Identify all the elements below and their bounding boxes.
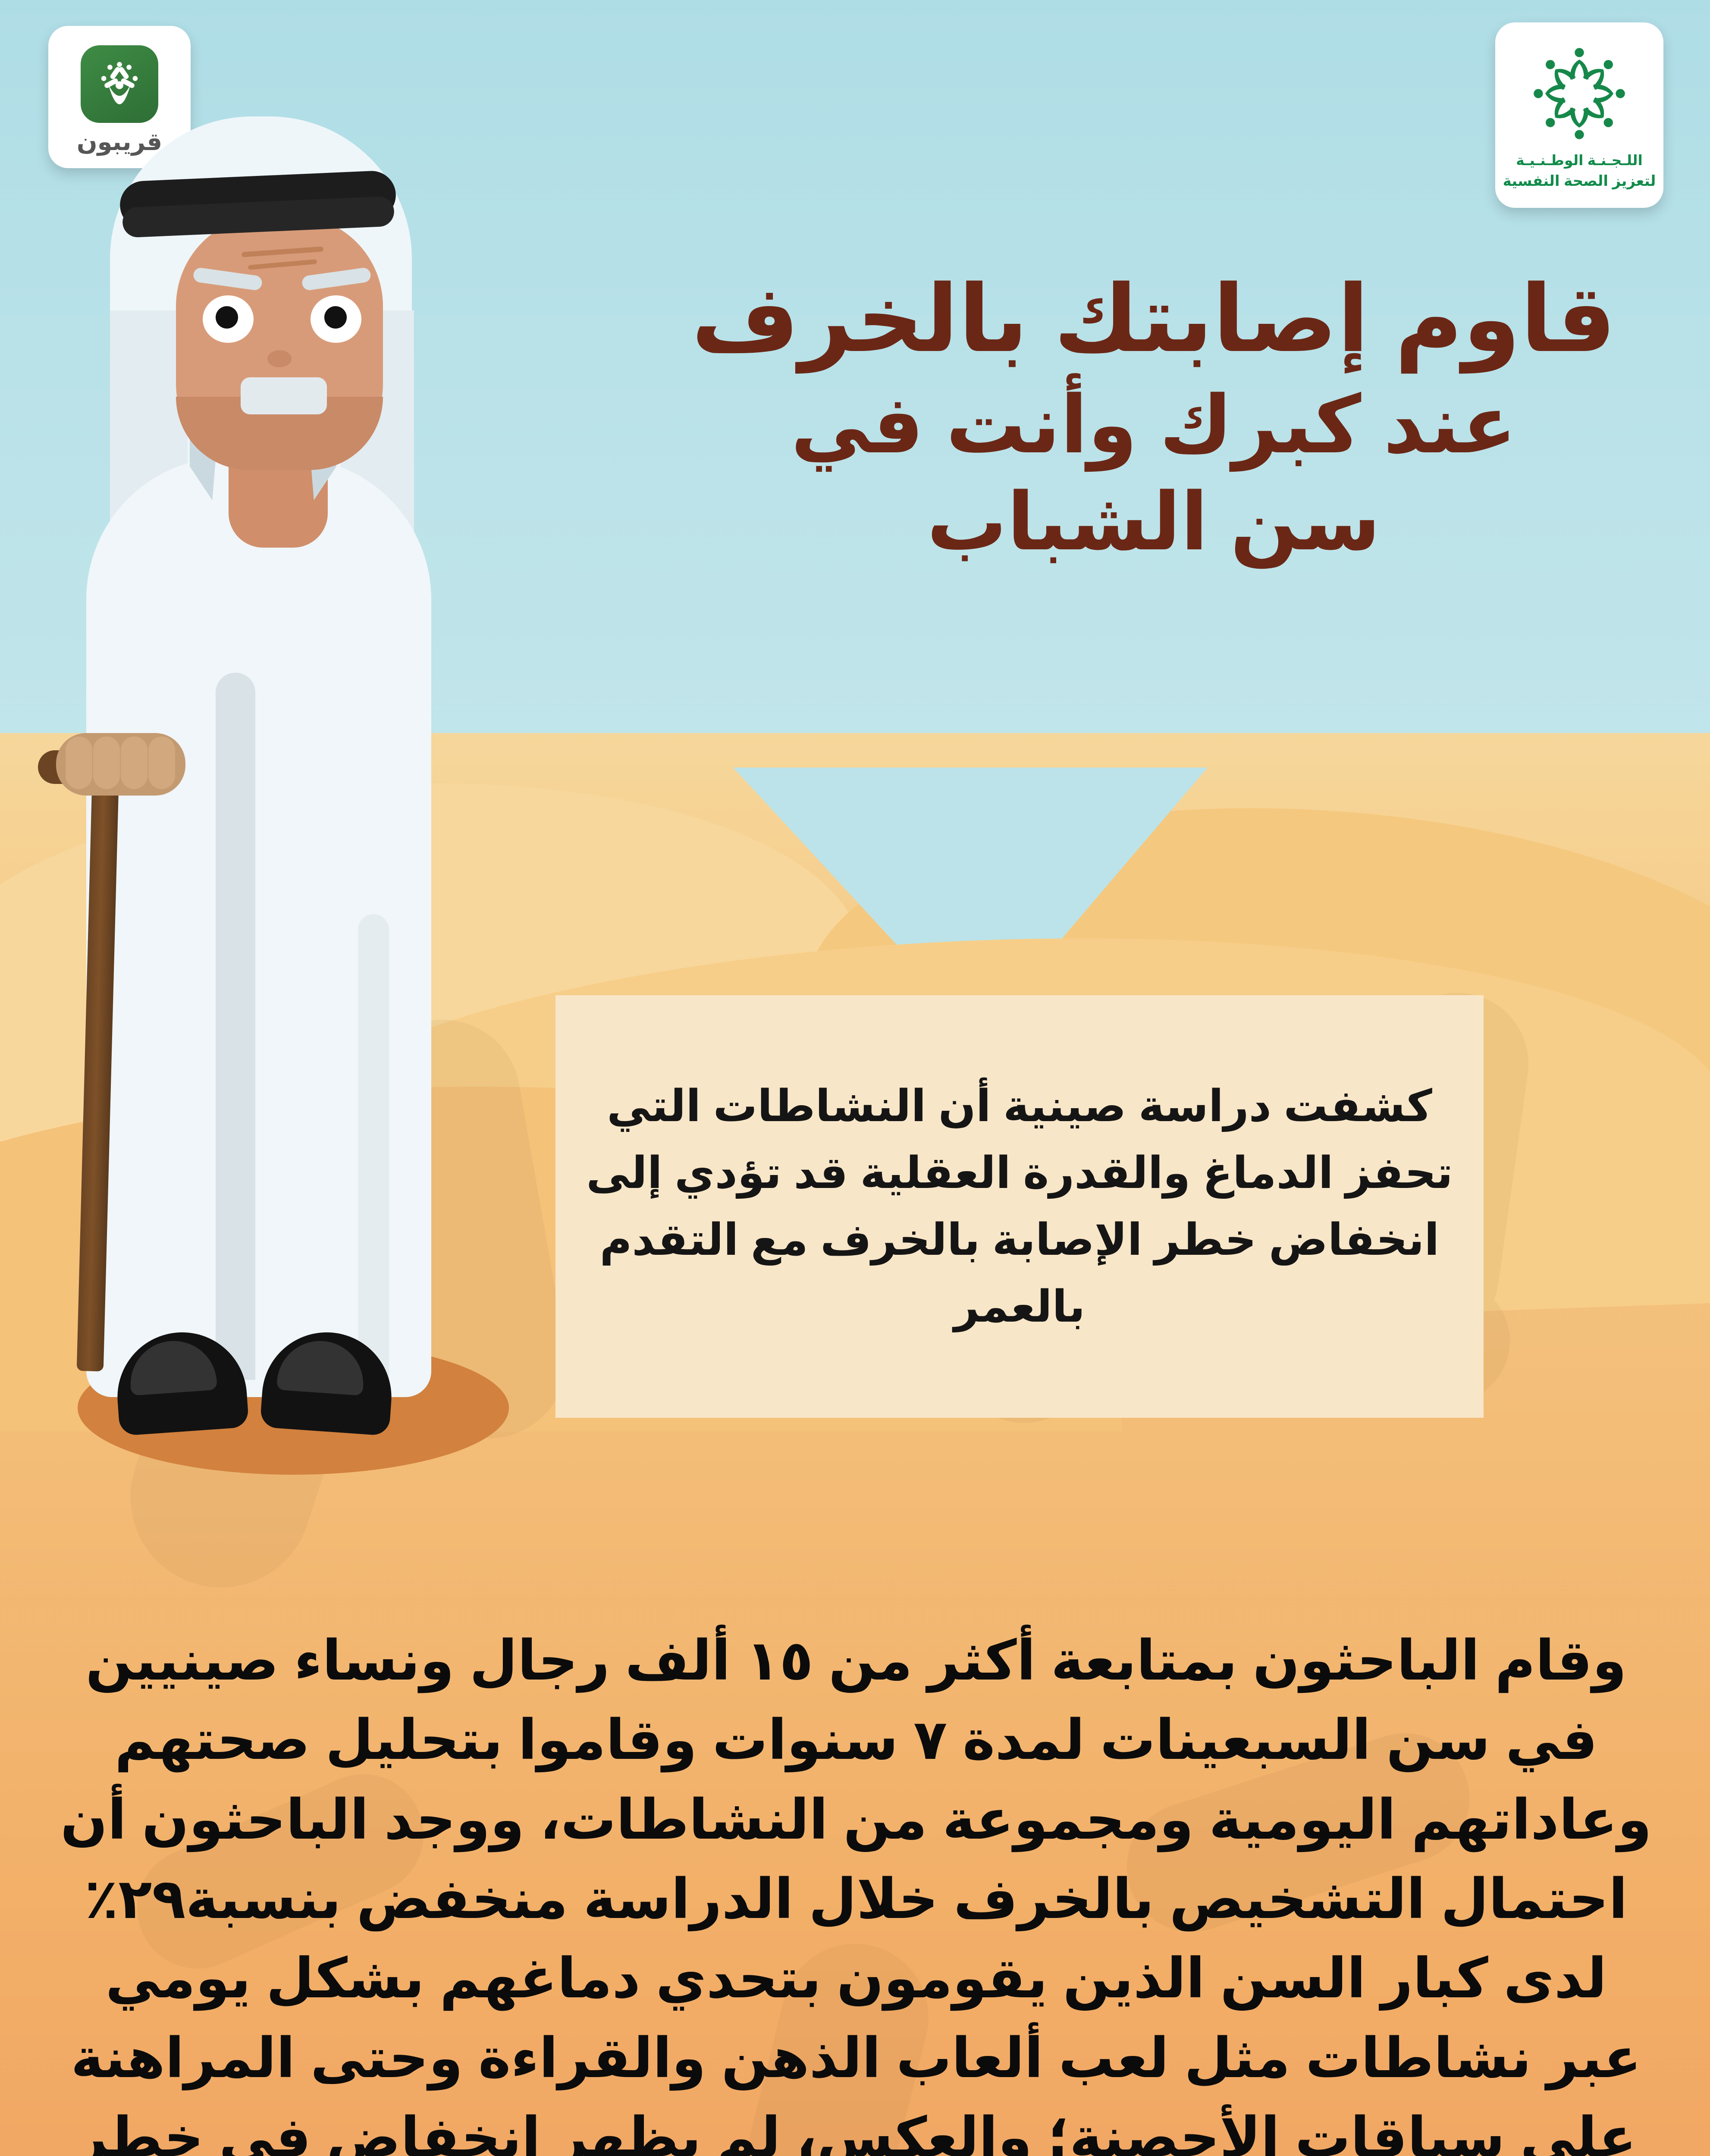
mustache-mouth (241, 377, 327, 414)
logo-caption-line-1: اللـجـنـة الوطـنـيـة (1503, 150, 1656, 171)
headline-line-2: عند كبرك وأنت في (684, 381, 1624, 470)
people-circle-icon (1529, 44, 1629, 146)
finger (148, 736, 175, 789)
headline: قاوم إصابتك بالخرف عند كبرك وأنت في سن ا… (684, 267, 1624, 567)
study-callout-box: كشفت دراسة صينية أن النشاطات التي تحفز ا… (555, 995, 1484, 1418)
finger (121, 736, 147, 789)
finger (93, 736, 120, 789)
people-star-icon (81, 45, 158, 123)
pupil-right (324, 306, 347, 329)
logo-caption-line-2: لتعزيز الصحة النفسية (1503, 171, 1656, 192)
pupil-left (216, 306, 238, 329)
national-committee-logo-caption: اللـجـنـة الوطـنـيـة لتعزيز الصحة النفسي… (1503, 150, 1656, 192)
thobe-fold-secondary (358, 914, 389, 1380)
thobe-fold (216, 673, 255, 1380)
body-paragraph: وقام الباحثون بمتابعة أكثر من ١٥ ألف رجا… (60, 1621, 1652, 2156)
nose (267, 350, 292, 367)
national-committee-logo-card[interactable]: اللـجـنـة الوطـنـيـة لتعزيز الصحة النفسي… (1495, 22, 1663, 208)
headline-line-3: سن الشباب (684, 478, 1624, 567)
callout-text: كشفت دراسة صينية أن النشاطات التي تحفز ا… (586, 1073, 1453, 1340)
finger (66, 736, 92, 789)
infographic-poster: قريبون اللـج (0, 0, 1710, 2156)
elderly-man-illustration (0, 129, 509, 1531)
callout-lead: كشفت دراسة صينية (1003, 1081, 1432, 1131)
headline-line-1: قاوم إصابتك بالخرف (684, 267, 1624, 371)
